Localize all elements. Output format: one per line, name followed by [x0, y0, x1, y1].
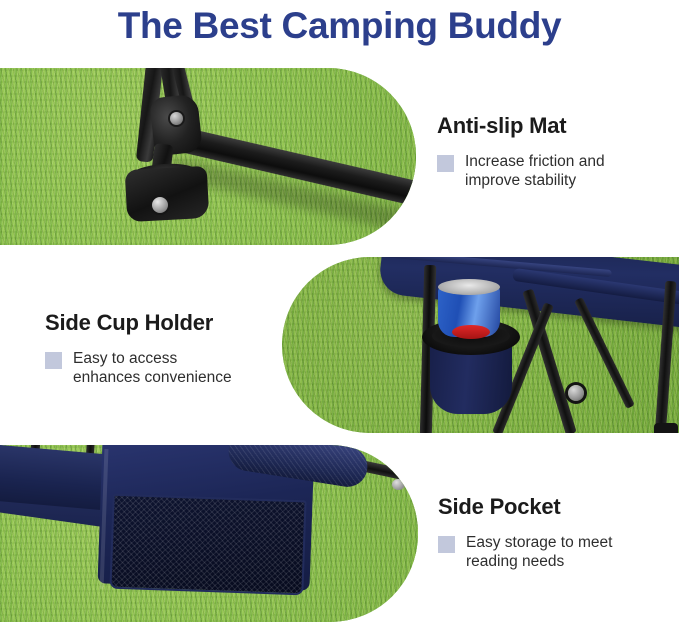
feature-body-anti-slip-mat: Increase friction and improve stability: [437, 152, 605, 190]
mesh-side-pocket: [109, 494, 306, 596]
page-title: The Best Camping Buddy: [0, 2, 679, 50]
hub-bolt-icon: [170, 112, 183, 125]
feature-heading-anti-slip-mat: Anti-slip Mat: [437, 113, 605, 139]
feature-description-anti-slip-mat: Increase friction and improve stability: [465, 152, 605, 190]
feature-block-side-pocket: Side Pocket Easy storage to meet reading…: [438, 494, 612, 571]
feature-image-side-cup-holder: [282, 257, 679, 433]
feature-image-anti-slip-mat: [0, 68, 416, 245]
feature-block-anti-slip-mat: Anti-slip Mat Increase friction and impr…: [437, 113, 605, 190]
leg-joint-bolt-icon: [568, 385, 584, 401]
bullet-square-icon: [437, 155, 454, 172]
feature-heading-side-cup-holder: Side Cup Holder: [45, 310, 232, 336]
feature-body-side-cup-holder: Easy to access enhances convenience: [45, 349, 232, 387]
feature-body-side-pocket: Easy storage to meet reading needs: [438, 533, 612, 571]
foot-bolt-icon: [152, 197, 168, 213]
bullet-square-icon: [45, 352, 62, 369]
rail-cap-icon: [392, 479, 405, 490]
feature-description-side-pocket: Easy storage to meet reading needs: [466, 533, 612, 571]
feature-image-side-pocket: [0, 445, 418, 622]
soda-can-red-label: [452, 325, 490, 339]
soda-can-top: [438, 279, 500, 295]
feature-description-side-cup-holder: Easy to access enhances convenience: [73, 349, 232, 387]
feature-heading-side-pocket: Side Pocket: [438, 494, 612, 520]
bullet-square-icon: [438, 536, 455, 553]
chair-foot: [654, 423, 678, 433]
feature-block-side-cup-holder: Side Cup Holder Easy to access enhances …: [45, 310, 232, 387]
anti-slip-foot-base: [125, 166, 210, 222]
